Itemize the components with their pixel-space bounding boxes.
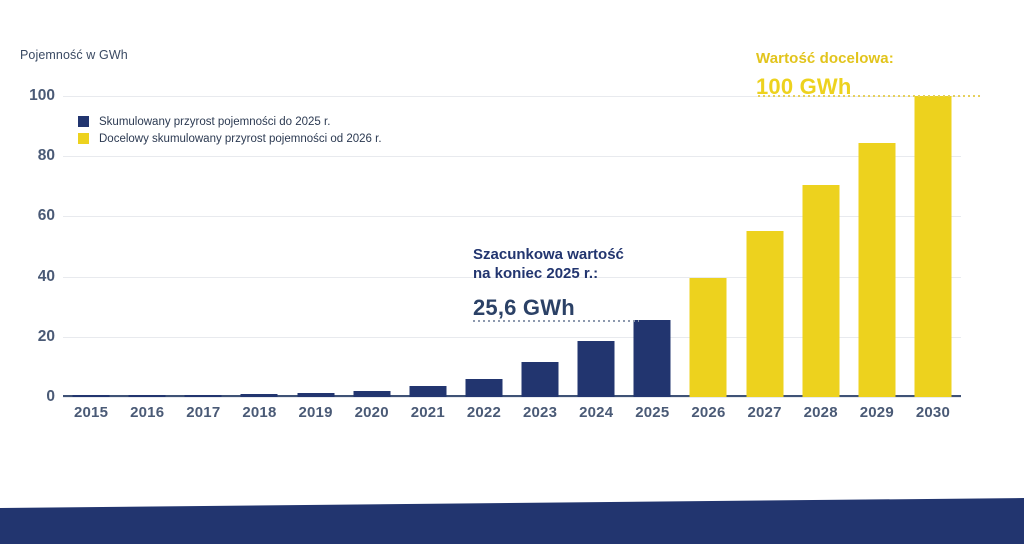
legend-label-target: Docelowy skumulowany przyrost pojemności… <box>99 133 382 145</box>
footer-brand: BSW-Solar <box>782 18 845 32</box>
x-tick-label-2020: 2020 <box>355 404 389 421</box>
x-tick-label-2016: 2016 <box>130 404 164 421</box>
bar-slot-2030 <box>905 96 961 397</box>
bar-slot-2028 <box>793 96 849 397</box>
bar-2020[interactable] <box>353 391 390 397</box>
x-tick-label-2018: 2018 <box>242 404 276 421</box>
bar-slot-2029 <box>849 96 905 397</box>
bar-2030[interactable] <box>914 96 951 397</box>
y-axis-title: Pojemność w GWh <box>20 48 128 62</box>
target-caption: Wartość docelowa: <box>756 50 894 67</box>
x-tick-label-2030: 2030 <box>916 404 950 421</box>
target-value: 100 GWh <box>756 74 894 100</box>
bar-slot-2027 <box>737 96 793 397</box>
legend-item-historic: Skumulowany przyrost pojemności do 2025 … <box>78 113 382 130</box>
x-tick-label-2017: 2017 <box>186 404 220 421</box>
x-tick-label-2019: 2019 <box>298 404 332 421</box>
x-tick-label-2026: 2026 <box>691 404 725 421</box>
y-tick-label-100: 100 <box>9 87 55 105</box>
bar-2019[interactable] <box>297 393 334 397</box>
y-tick-label-20: 20 <box>9 328 55 346</box>
x-tick-label-2025: 2025 <box>635 404 669 421</box>
x-tick-label-2024: 2024 <box>579 404 613 421</box>
bar-slot-2025 <box>624 96 680 397</box>
bar-2018[interactable] <box>241 394 278 397</box>
bar-2021[interactable] <box>409 386 446 397</box>
x-tick-label-2028: 2028 <box>804 404 838 421</box>
y-tick-label-0: 0 <box>9 388 55 406</box>
bar-2017[interactable] <box>185 395 222 398</box>
x-tick-label-2021: 2021 <box>411 404 445 421</box>
footer-credit: BSW-Solar | www.solarwirtschaft.de <box>782 18 1000 32</box>
bar-slot-2026 <box>680 96 736 397</box>
x-axis-labels: 2015201620172018201920202021202220232024… <box>63 404 961 430</box>
estimate-annotation: Szacunkowa wartość na koniec 2025 r.: 25… <box>473 245 624 321</box>
x-tick-label-2029: 2029 <box>860 404 894 421</box>
x-tick-label-2022: 2022 <box>467 404 501 421</box>
gridline-0 <box>63 397 961 398</box>
y-tick-label-40: 40 <box>9 268 55 286</box>
bar-2029[interactable] <box>858 143 895 397</box>
bar-2023[interactable] <box>522 362 559 397</box>
legend-label-historic: Skumulowany przyrost pojemności do 2025 … <box>99 116 330 128</box>
legend-item-target: Docelowy skumulowany przyrost pojemności… <box>78 130 382 147</box>
chart-legend: Skumulowany przyrost pojemności do 2025 … <box>78 113 382 147</box>
chart-page: Pojemność w GWh 020406080100 20152016201… <box>0 0 1024 544</box>
x-tick-label-2015: 2015 <box>74 404 108 421</box>
bar-2026[interactable] <box>690 278 727 397</box>
bar-2022[interactable] <box>465 379 502 397</box>
footer-band <box>0 498 1024 544</box>
bar-2024[interactable] <box>578 341 615 397</box>
y-tick-label-60: 60 <box>9 207 55 225</box>
bar-slot-2021 <box>400 96 456 397</box>
legend-swatch-yellow-icon <box>78 133 89 144</box>
bar-2016[interactable] <box>129 395 166 398</box>
footer-separator: | <box>846 18 857 32</box>
y-axis-ticks: 020406080100 <box>0 96 55 397</box>
estimate-value: 25,6 GWh <box>473 295 624 321</box>
x-tick-label-2023: 2023 <box>523 404 557 421</box>
bar-2027[interactable] <box>746 231 783 397</box>
footer-url: www.solarwirtschaft.de <box>856 18 1000 32</box>
bar-2025[interactable] <box>634 320 671 397</box>
target-annotation: Wartość docelowa: 100 GWh <box>756 50 894 100</box>
estimate-caption: Szacunkowa wartość na koniec 2025 r.: <box>473 245 624 283</box>
bar-2028[interactable] <box>802 185 839 397</box>
x-tick-label-2027: 2027 <box>747 404 781 421</box>
legend-swatch-navy-icon <box>78 116 89 127</box>
bar-2015[interactable] <box>73 395 110 398</box>
y-tick-label-80: 80 <box>9 147 55 165</box>
